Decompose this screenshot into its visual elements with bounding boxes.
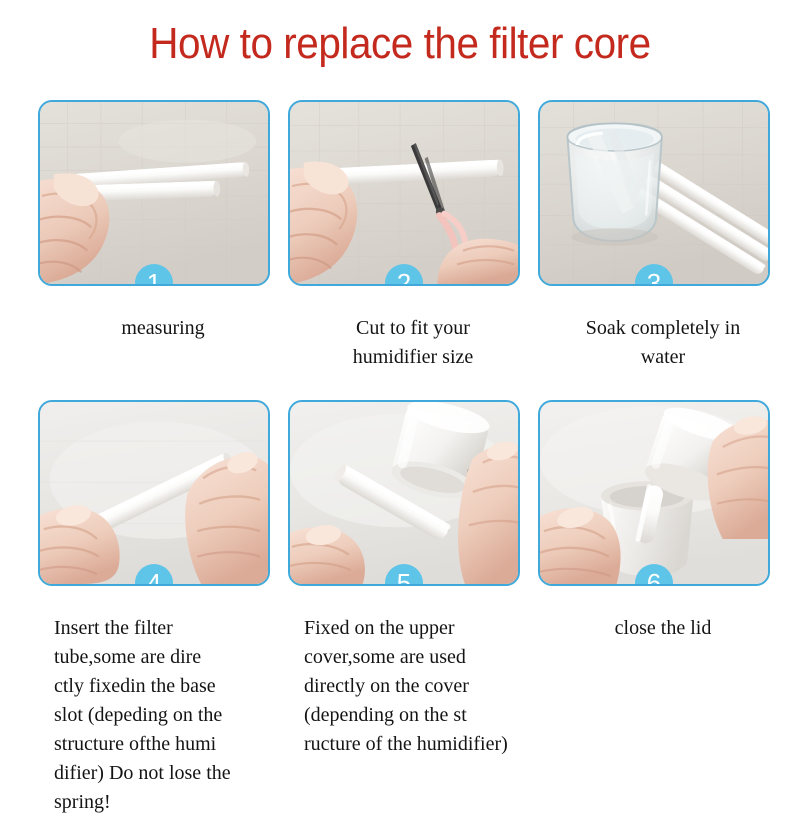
step-card-3: 3 Soak completely in water (538, 100, 788, 372)
step-caption-3: Soak completely in water (538, 314, 788, 372)
step-card-4: 4 Insert the filter tube,some are dire c… (38, 400, 288, 817)
step-caption-1: measuring (38, 314, 288, 343)
step-caption-5: Fixed on the upper cover,some are used d… (288, 614, 538, 759)
step-photo-5: 5 (288, 400, 520, 586)
step-photo-4: 4 (38, 400, 270, 586)
step-card-1: 1 measuring (38, 100, 288, 343)
infographic-page: How to replace the filter core (0, 0, 800, 800)
step-photo-3: 3 (538, 100, 770, 286)
step-photo-1: 1 (38, 100, 270, 286)
step-card-2: 2 Cut to fit your humidifier size (288, 100, 538, 372)
step-caption-6: close the lid (538, 614, 788, 643)
steps-grid: 1 measuring (0, 0, 800, 800)
step-card-5: 5 Fixed on the upper cover,some are used… (288, 400, 538, 759)
step-photo-6: 6 (538, 400, 770, 586)
step-caption-2: Cut to fit your humidifier size (288, 314, 538, 372)
step-photo-2: 2 (288, 100, 520, 286)
step-card-6: 6 close the lid (538, 400, 788, 643)
step-caption-4: Insert the filter tube,some are dire ctl… (38, 614, 288, 817)
